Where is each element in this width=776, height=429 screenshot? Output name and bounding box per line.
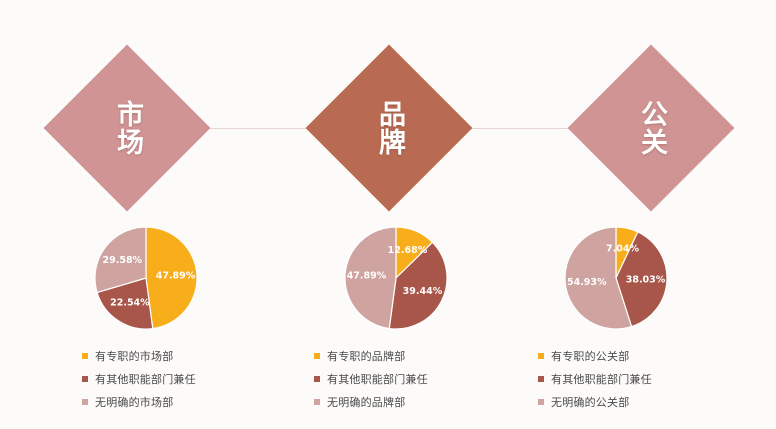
diamond-card-market[interactable]: 市场 [68,69,186,187]
legend-item[interactable]: 无明确的公关部 [538,390,652,413]
pie-slice-label: 22.54% [110,297,150,308]
pie-chart-market: 47.89%22.54%29.58% [76,222,214,334]
legend-label: 无明确的公关部 [551,394,629,410]
legend-item[interactable]: 无明确的品牌部 [314,390,428,413]
legend-label: 无明确的品牌部 [327,394,405,410]
legend-item[interactable]: 无明确的市场部 [82,390,196,413]
pie-chart-brand: 12.68%39.44%47.89% [316,222,454,334]
legend-item[interactable]: 有其他职能部门兼任 [82,367,196,390]
diamond-card-brand[interactable]: 品牌 [330,69,448,187]
pie-slice-label: 39.44% [403,286,443,297]
pie-slice-label: 54.93% [567,277,607,288]
pie-chart-pr-svg: 7.04%38.03%54.93% [560,222,672,334]
legend-label: 有专职的公关部 [551,348,629,364]
legend-swatch-icon [538,376,544,382]
legend-swatch-icon [82,353,88,359]
legend-label: 有其他职能部门兼任 [551,371,652,387]
pie-slice-label: 47.89% [156,271,196,282]
legend-item[interactable]: 有专职的公关部 [538,344,652,367]
pie-slice-label: 47.89% [347,271,387,282]
legend-pr: 有专职的公关部 有其他职能部门兼任 无明确的公关部 [538,344,652,413]
pie-slice-label: 29.58% [103,255,143,266]
legend-swatch-icon [314,376,320,382]
pie-chart-market-svg: 47.89%22.54%29.58% [90,222,202,334]
legend-item[interactable]: 有专职的市场部 [82,344,196,367]
legend-label: 有专职的品牌部 [327,348,405,364]
legend-item[interactable]: 有其他职能部门兼任 [538,367,652,390]
legend-swatch-icon [314,353,320,359]
diamond-card-pr[interactable]: 公关 [592,69,710,187]
diamond-label-pr: 公关 [592,69,710,187]
legend-swatch-icon [314,399,320,405]
pie-slice-label: 7.04% [606,244,639,255]
pie-chart-pr: 7.04%38.03%54.93% [540,222,678,334]
legend-label: 有其他职能部门兼任 [327,371,428,387]
legend-label: 有其他职能部门兼任 [95,371,196,387]
legend-swatch-icon [538,399,544,405]
legend-swatch-icon [82,399,88,405]
pie-chart-brand-svg: 12.68%39.44%47.89% [340,222,452,334]
diamond-label-market: 市场 [68,69,186,187]
legend-swatch-icon [538,353,544,359]
legend-swatch-icon [82,376,88,382]
legend-brand: 有专职的品牌部 有其他职能部门兼任 无明确的品牌部 [314,344,428,413]
legend-label: 有专职的市场部 [95,348,173,364]
legend-market: 有专职的市场部 有其他职能部门兼任 无明确的市场部 [82,344,196,413]
infographic-canvas: 市场 品牌 公关 47.89%22.54%29.58% 12.68%39.44%… [0,0,776,429]
pie-slice-label: 12.68% [388,245,428,256]
diamond-label-brand: 品牌 [330,69,448,187]
legend-item[interactable]: 有专职的品牌部 [314,344,428,367]
legend-item[interactable]: 有其他职能部门兼任 [314,367,428,390]
legend-label: 无明确的市场部 [95,394,173,410]
pie-slice-label: 38.03% [626,274,666,285]
